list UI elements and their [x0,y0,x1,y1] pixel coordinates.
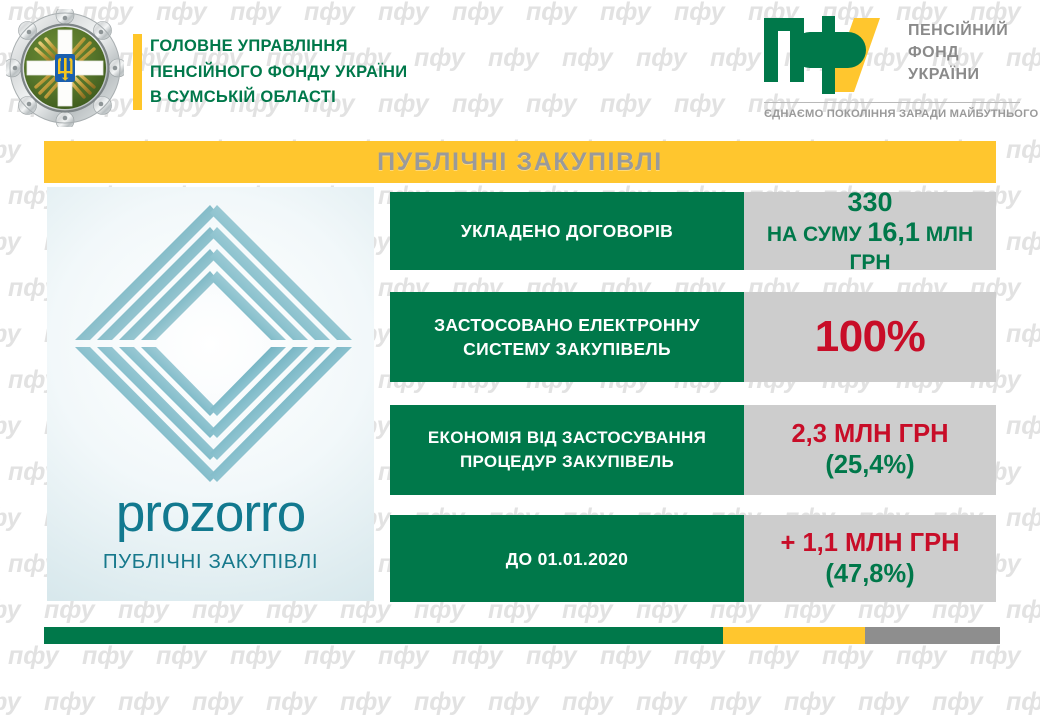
contracts-total-amount: НА СУМУ 16,1 МЛН ГРН [744,218,996,277]
page-title: ГОЛОВНЕ УПРАВЛІННЯ ПЕНСІЙНОГО ФОНДУ УКРА… [150,34,407,111]
amount-number: 16,1 [867,217,920,247]
logo-divider [764,102,1020,103]
electronic-system-percent: 100% [815,314,926,360]
amount-prefix-label: НА СУМУ [767,223,862,246]
org-title-line-2: ПЕНСІЙНОГО ФОНДУ УКРАЇНИ [150,60,407,86]
watermark-row: пфупфупфупфупфупфупфупфупфупфупфупфупфуп… [8,644,1040,669]
section-title-text: ПУБЛІЧНІ ЗАКУПІВЛІ [377,148,663,177]
org-title-line-1: ГОЛОВНЕ УПРАВЛІННЯ [150,34,407,60]
slide-header: ГОЛОВНЕ УПРАВЛІННЯ ПЕНСІЙНОГО ФОНДУ УКРА… [0,0,1040,136]
row-value-contracts-concluded: 330 НА СУМУ 16,1 МЛН ГРН [744,192,996,270]
pension-fund-emblem-icon [6,9,124,127]
tricolor-segment-gray [865,627,1000,644]
table-row: УКЛАДЕНО ДОГОВОРІВ 330 НА СУМУ 16,1 МЛН … [390,192,996,270]
prozorro-diamond-icon [47,193,374,493]
title-accent-bar [133,34,142,110]
row-label-electronic-system: ЗАСТОСОВАНО ЕЛЕКТРОННУ СИСТЕМУ ЗАКУПІВЕЛ… [390,292,744,382]
prozorro-logo-panel: prozorro ПУБЛІЧНІ ЗАКУПІВЛІ [47,187,374,601]
row-value-period-change: + 1,1 МЛН ГРН (47,8%) [744,515,996,602]
pfu-logo-words: ПЕНСІЙНИЙ ФОНД УКРАЇНИ [908,20,1008,86]
watermark-row: пфупфупфупфупфупфупфупфупфупфупфупфупфуп… [0,690,1040,715]
footer-tricolor-bar [44,627,1000,644]
org-title-line-3: В СУМСЬКІЙ ОБЛАСТІ [150,85,407,111]
procurement-stats-table: УКЛАДЕНО ДОГОВОРІВ 330 НА СУМУ 16,1 МЛН … [390,187,996,602]
savings-amount: 2,3 МЛН ГРН [791,419,948,450]
row-value-savings: 2,3 МЛН ГРН (25,4%) [744,405,996,495]
table-row: ЕКОНОМІЯ ВІД ЗАСТОСУВАННЯ ПРОЦЕДУР ЗАКУП… [390,405,996,495]
period-change-percent: (47,8%) [825,559,914,590]
slide-canvas: пфупфупфупфупфупфупфупфупфупфупфупфупфуп… [0,0,1040,720]
table-row: ЗАСТОСОВАНО ЕЛЕКТРОННУ СИСТЕМУ ЗАКУПІВЕЛ… [390,292,996,382]
row-label-contracts-concluded: УКЛАДЕНО ДОГОВОРІВ [390,192,744,270]
savings-percent: (25,4%) [825,450,914,481]
pfu-logo: ПЕНСІЙНИЙ ФОНД УКРАЇНИ ЄДНАЄМО ПОКОЛІННЯ… [762,16,1022,128]
row-value-electronic-system: 100% [744,292,996,382]
row-label-savings: ЕКОНОМІЯ ВІД ЗАСТОСУВАННЯ ПРОЦЕДУР ЗАКУП… [390,405,744,495]
pfu-word-3: УКРАЇНИ [908,64,1008,86]
prozorro-wordmark: prozorro [47,483,374,544]
tricolor-segment-green [44,627,723,644]
pfu-monogram-icon [762,16,897,94]
prozorro-subtitle: ПУБЛІЧНІ ЗАКУПІВЛІ [47,550,374,574]
pfu-word-1: ПЕНСІЙНИЙ [908,20,1008,42]
pfu-logo-tagline: ЄДНАЄМО ПОКОЛІННЯ ЗАРАДИ МАЙБУТНЬОГО [764,108,1022,120]
pfu-word-2: ФОНД [908,42,1008,64]
period-change-amount: + 1,1 МЛН ГРН [780,528,959,559]
contracts-count: 330 [847,186,892,218]
tricolor-segment-yellow [723,627,865,644]
row-label-period-date: ДО 01.01.2020 [390,515,744,602]
table-row: ДО 01.01.2020 + 1,1 МЛН ГРН (47,8%) [390,515,996,602]
section-title-banner: ПУБЛІЧНІ ЗАКУПІВЛІ [44,141,996,183]
